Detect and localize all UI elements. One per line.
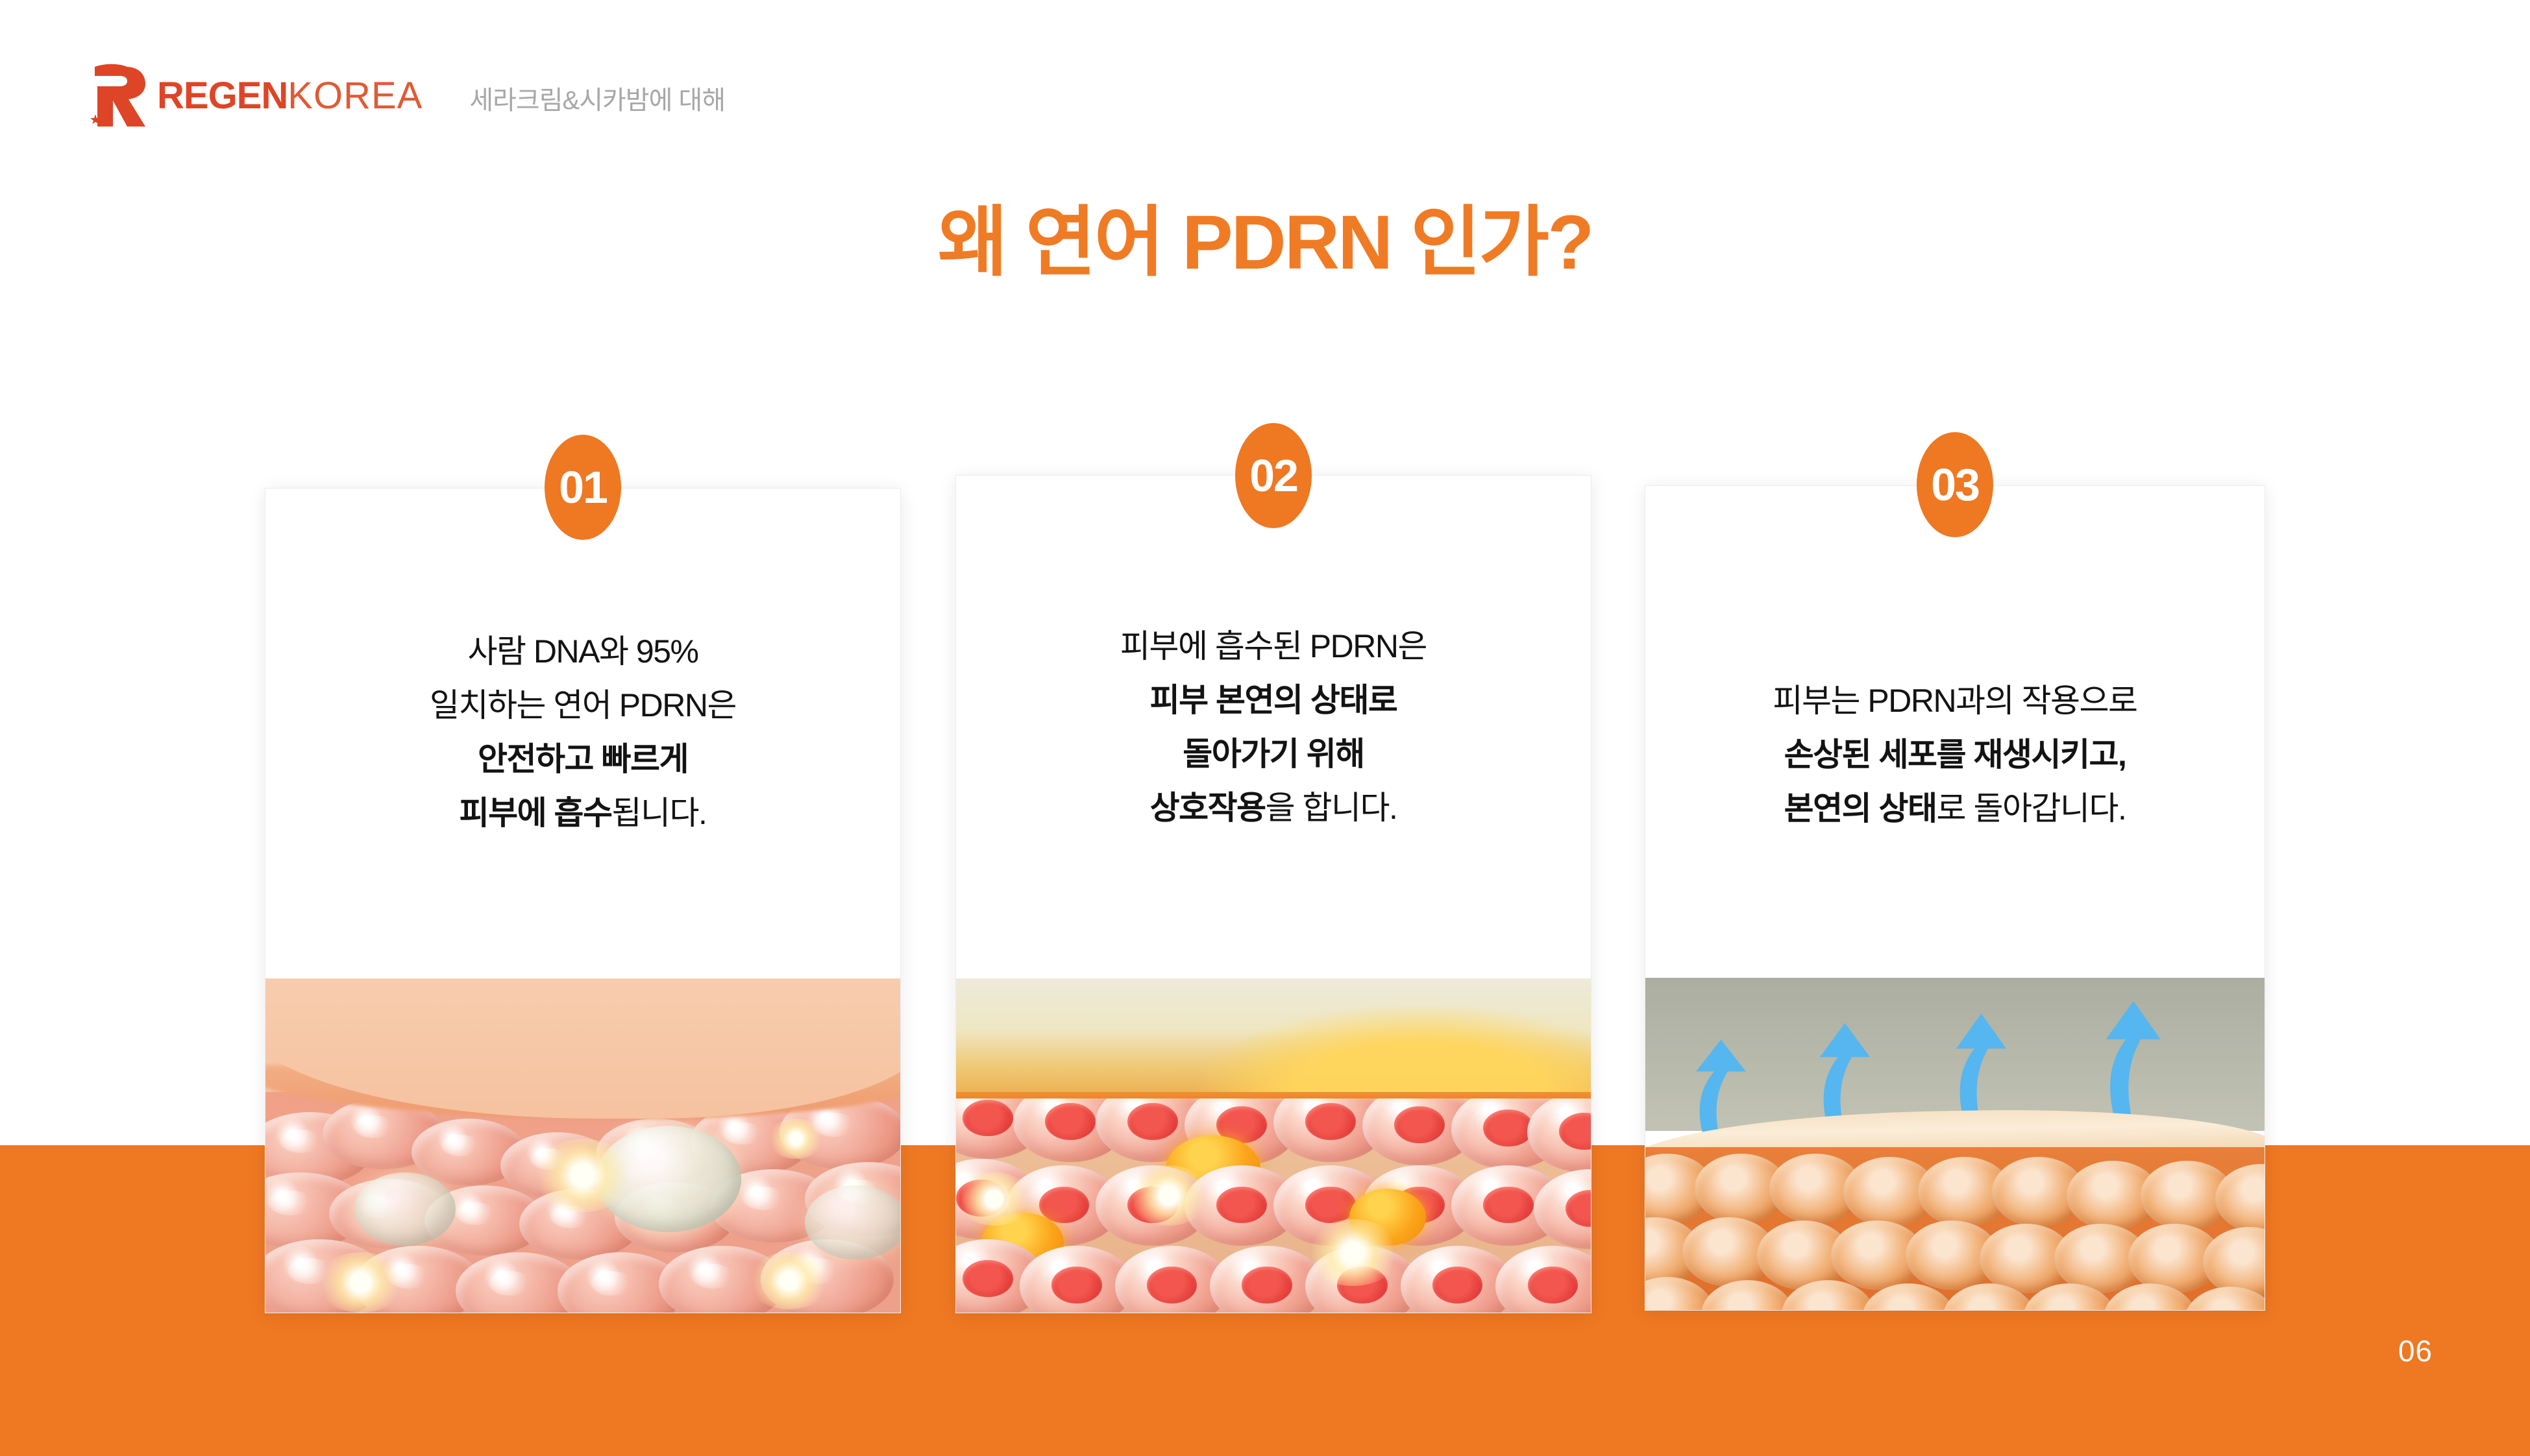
card-03-line-2: 손상된 세포를 재생시키고, bbox=[1645, 728, 2265, 782]
card-02-text: 피부에 흡수된 PDRN은 피부 본연의 상태로 돌아가기 위해 상호작용을 합… bbox=[956, 620, 1591, 835]
card-02-image bbox=[956, 978, 1591, 1313]
card-01-image bbox=[265, 978, 900, 1313]
card-01-line-4: 피부에 흡수됩니다. bbox=[265, 786, 900, 840]
card-02-line-3: 돌아가기 위해 bbox=[956, 727, 1591, 781]
card-01-line-1: 사람 DNA와 95% bbox=[265, 625, 900, 679]
card-03-image bbox=[1645, 978, 2265, 1310]
card-03-line-1: 피부는 PDRN과의 작용으로 bbox=[1645, 674, 2265, 728]
card-03[interactable]: 피부는 PDRN과의 작용으로 손상된 세포를 재생시키고, 본연의 상태로 돌… bbox=[1645, 485, 2265, 1311]
card-02-badge: 02 bbox=[1235, 423, 1312, 528]
card-01-text: 사람 DNA와 95% 일치하는 연어 PDRN은 안전하고 빠르게 피부에 흡… bbox=[265, 625, 900, 840]
card-01[interactable]: 사람 DNA와 95% 일치하는 연어 PDRN은 안전하고 빠르게 피부에 흡… bbox=[265, 488, 901, 1313]
card-01-badge: 01 bbox=[545, 435, 621, 540]
card-02[interactable]: 피부에 흡수된 PDRN은 피부 본연의 상태로 돌아가기 위해 상호작용을 합… bbox=[955, 475, 1591, 1313]
card-02-line-2: 피부 본연의 상태로 bbox=[956, 673, 1591, 727]
card-03-text: 피부는 PDRN과의 작용으로 손상된 세포를 재생시키고, 본연의 상태로 돌… bbox=[1645, 674, 2265, 836]
card-02-line-4: 상호작용을 합니다. bbox=[956, 781, 1591, 835]
card-03-line-3: 본연의 상태로 돌아갑니다. bbox=[1645, 782, 2265, 836]
page-number: 06 bbox=[2398, 1333, 2433, 1368]
card-01-line-3: 안전하고 빠르게 bbox=[265, 733, 900, 786]
card-03-badge: 03 bbox=[1917, 432, 1993, 537]
card-02-line-1: 피부에 흡수된 PDRN은 bbox=[956, 620, 1591, 673]
card-01-line-2: 일치하는 연어 PDRN은 bbox=[265, 679, 900, 733]
cards-container: 사람 DNA와 95% 일치하는 연어 PDRN은 안전하고 빠르게 피부에 흡… bbox=[0, 0, 2530, 1456]
